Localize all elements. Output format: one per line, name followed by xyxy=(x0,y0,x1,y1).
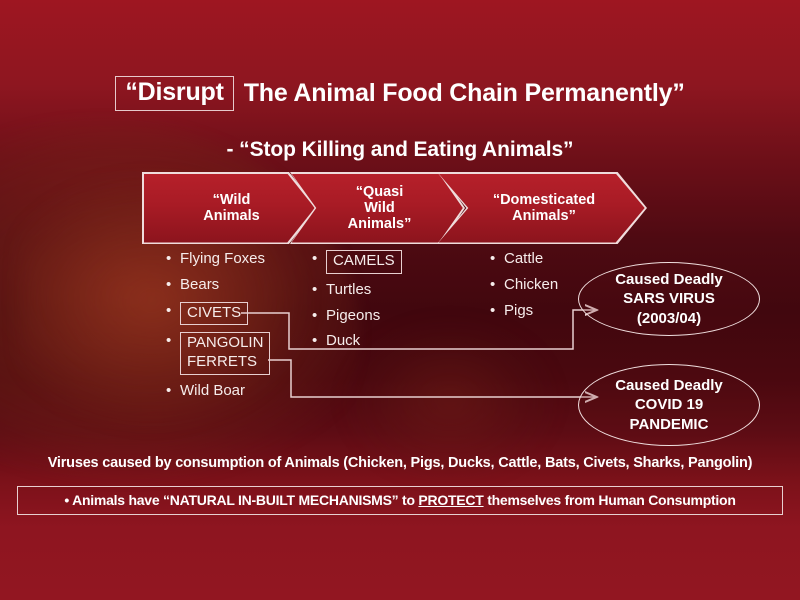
subtitle: - “Stop Killing and Eating Animals” xyxy=(0,138,800,162)
outcome-label: Caused DeadlySARS VIRUS(2003/04) xyxy=(615,270,723,328)
outcome-sars-virus[interactable]: Caused DeadlySARS VIRUS(2003/04) xyxy=(578,262,760,336)
list-item-label: Turtles xyxy=(326,281,371,300)
list-item-label: Pigs xyxy=(504,302,533,321)
footer-statement-box: • Animals have “NATURAL IN-BUILT MECHANI… xyxy=(17,486,783,515)
list-item-label: Duck xyxy=(326,332,360,351)
list-item[interactable]: • CIVETS xyxy=(166,302,316,326)
title-row: “Disrupt The Animal Food Chain Permanent… xyxy=(0,76,800,111)
bullet-icon: • xyxy=(490,302,504,321)
list-item-label-highlighted: CIVETS xyxy=(180,302,248,326)
list-item-label: Chicken xyxy=(504,276,558,295)
list-item-label-highlighted: CAMELS xyxy=(326,250,402,274)
outcome-label: Caused DeadlyCOVID 19PANDEMIC xyxy=(615,376,723,434)
list-item-label: Pigeons xyxy=(326,307,380,326)
bullet-icon: • xyxy=(312,332,326,351)
bullet-icon: • xyxy=(490,250,504,269)
outcome-covid-pandemic[interactable]: Caused DeadlyCOVID 19PANDEMIC xyxy=(578,364,760,446)
list-item[interactable]: • Bears xyxy=(166,276,316,295)
list-item[interactable]: • Turtles xyxy=(312,281,462,300)
slide-canvas: “Disrupt The Animal Food Chain Permanent… xyxy=(0,0,800,600)
bullet-icon: • xyxy=(166,250,180,269)
bullet-icon: • xyxy=(490,276,504,295)
list-item[interactable]: • Cattle xyxy=(490,250,630,269)
footer-statement-prefix: • Animals have “NATURAL IN-BUILT MECHANI… xyxy=(64,492,418,508)
chevron-label: “QuasiWildAnimals” xyxy=(344,184,412,233)
bullet-icon: • xyxy=(166,382,180,401)
list-item-label: Cattle xyxy=(504,250,543,269)
footer-note: Viruses caused by consumption of Animals… xyxy=(0,455,800,471)
list-item[interactable]: • PANGOLINFERRETS xyxy=(166,332,316,375)
chevron-domesticated-animals[interactable]: “DomesticatedAnimals” xyxy=(437,172,647,244)
bullet-icon: • xyxy=(312,250,326,269)
chevron-label: “WildAnimals xyxy=(199,192,259,224)
bullet-icon: • xyxy=(166,302,180,321)
list-item[interactable]: • Flying Foxes xyxy=(166,250,316,269)
list-item-label: Wild Boar xyxy=(180,382,245,401)
link-pangolin-to-covid xyxy=(268,360,596,397)
title-rest: The Animal Food Chain Permanently” xyxy=(234,81,685,106)
list-item-label: Bears xyxy=(180,276,219,295)
bullet-icon: • xyxy=(312,307,326,326)
column-quasi-wild-animals: • CAMELS • Turtles • Pigeons • Duck xyxy=(312,250,462,358)
bullet-icon: • xyxy=(166,276,180,295)
column-wild-animals: • Flying Foxes • Bears • CIVETS • PANGOL… xyxy=(166,250,316,408)
bullet-icon: • xyxy=(312,281,326,300)
footer-statement-underlined: PROTECT xyxy=(418,492,483,508)
food-chain-chevrons: “WildAnimals “QuasiWildAnimals” “Domesti… xyxy=(142,172,642,244)
list-item[interactable]: • CAMELS xyxy=(312,250,462,274)
list-item[interactable]: • Wild Boar xyxy=(166,382,316,401)
bullet-icon: • xyxy=(166,332,180,351)
list-item-label-highlighted: PANGOLINFERRETS xyxy=(180,332,270,375)
footer-statement-suffix: themselves from Human Consumption xyxy=(484,492,736,508)
chevron-label: “DomesticatedAnimals” xyxy=(489,192,595,224)
list-item-label: Flying Foxes xyxy=(180,250,265,269)
list-item[interactable]: • Duck xyxy=(312,332,462,351)
title-boxed-word: “Disrupt xyxy=(115,76,233,111)
list-item[interactable]: • Pigeons xyxy=(312,307,462,326)
